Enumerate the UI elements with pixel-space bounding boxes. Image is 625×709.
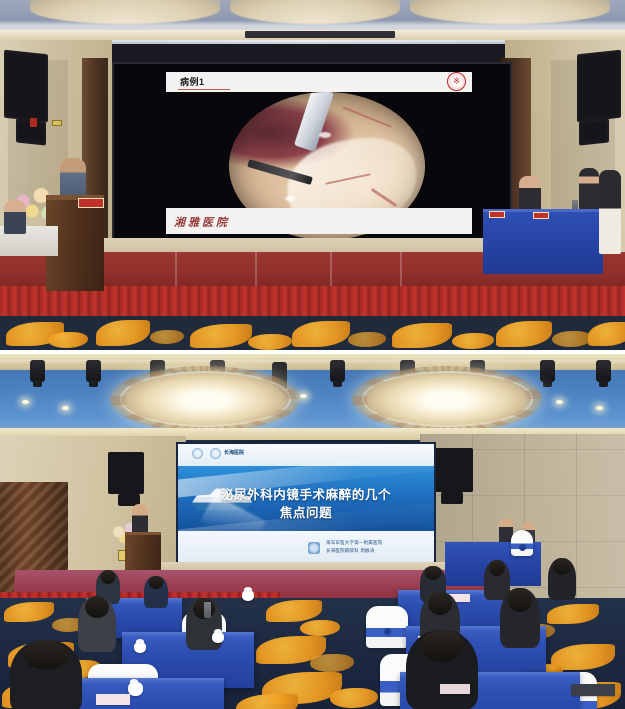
stage-seam — [175, 252, 177, 290]
presenter-at-podium — [60, 158, 86, 200]
speaker-array-left-top — [4, 50, 48, 123]
stage-seam — [330, 252, 332, 290]
slide-footer — [178, 531, 434, 562]
slide-footer-emblem-icon — [308, 542, 320, 554]
teacup — [212, 632, 224, 643]
photo-conference-audience: 长海医院 泌尿外科内镜手术麻醉的几个 焦点问题 海军军医大学第一附属医院 长海医… — [0, 354, 625, 709]
line-array-speaker-right-sub — [441, 492, 463, 504]
audience-member — [548, 558, 576, 600]
panelist-a — [519, 176, 541, 212]
led-screen[interactable]: 病例1 湘雅医院 — [112, 62, 512, 242]
vessel — [343, 106, 392, 127]
fire-alarm-box — [30, 118, 37, 127]
specular-glint — [319, 132, 331, 138]
line-array-speaker-right — [435, 448, 473, 492]
led-screen[interactable]: 长海医院 泌尿外科内镜手术麻醉的几个 焦点问题 海军军医大学第一附属医院 长海医… — [176, 442, 436, 564]
slide-title-line2: 焦点问题 — [178, 502, 434, 521]
downlight — [556, 400, 563, 404]
panel-nameplate — [489, 211, 505, 218]
changhai-hospital-emblem-icon — [210, 448, 221, 459]
navy-medical-university-emblem-icon — [192, 448, 203, 459]
moving-head-light-icon — [86, 360, 101, 382]
slide-title: 病例1 — [180, 75, 205, 88]
teacup — [128, 682, 143, 696]
slide-footer-calligraphy: 湘雅医院 — [174, 214, 230, 230]
seated-assistant — [4, 200, 26, 234]
teacup — [242, 590, 254, 601]
audience-member-foreground-left — [10, 640, 82, 709]
chandelier-left — [110, 366, 300, 432]
slide-footer-affiliation: 海军军医大学第一附属医院 — [326, 540, 382, 546]
downlight — [300, 394, 307, 398]
moving-head-light-icon — [540, 360, 555, 382]
specular-glint — [285, 196, 295, 201]
podium-nameplate — [78, 198, 104, 208]
photo-collage: 病例1 湘雅医院 — [0, 0, 625, 709]
panel-nameplate — [533, 212, 549, 219]
head-table-chair — [511, 530, 533, 556]
moving-head-light-icon — [596, 360, 611, 382]
thermos — [204, 602, 211, 618]
audience-member — [500, 588, 540, 648]
photo-conference-stage: 病例1 湘雅医院 — [0, 0, 625, 350]
slide-title-line1: 泌尿外科内镜手术麻醉的几个 — [178, 484, 434, 503]
hospital-emblem-icon — [447, 72, 466, 91]
downlight — [596, 406, 603, 410]
exit-sign — [52, 120, 62, 126]
standing-attendant — [599, 170, 621, 254]
carpet — [0, 316, 625, 350]
teacup — [134, 642, 146, 653]
downlight — [62, 406, 69, 410]
notebook — [571, 684, 615, 696]
line-array-speaker-left — [108, 452, 144, 494]
chair — [366, 606, 408, 648]
audience-member-foreground-center — [406, 630, 478, 709]
slide-footer-presenter: 长海医院麻醉科 周脉涛 — [326, 548, 374, 554]
moving-head-light-icon — [30, 360, 45, 382]
table-row — [64, 678, 224, 709]
chandelier-right — [352, 366, 542, 432]
speaker-array-right-top — [577, 50, 621, 123]
slide-title-underline — [178, 89, 230, 90]
downlight — [22, 400, 29, 404]
led-screen-surface: 病例1 湘雅医院 — [114, 64, 510, 240]
audience-member — [144, 576, 168, 608]
slide-header-logo-text: 长海医院 — [224, 449, 244, 456]
handout-paper — [440, 684, 470, 694]
audience-member — [78, 596, 116, 652]
handout-paper — [96, 694, 130, 705]
moving-head-light-icon — [330, 360, 345, 382]
presentation-slide: 长海医院 泌尿外科内镜手术麻醉的几个 焦点问题 海军军医大学第一附属医院 长海医… — [178, 444, 434, 562]
panel-table — [483, 212, 603, 274]
panelist-b — [579, 168, 599, 214]
speaker-array-right-bottom — [579, 118, 609, 145]
stage-seam — [400, 252, 402, 290]
surgical-grasper-icon — [294, 92, 334, 152]
stage-seam — [255, 252, 257, 290]
ceiling-projector-bar — [245, 31, 395, 38]
